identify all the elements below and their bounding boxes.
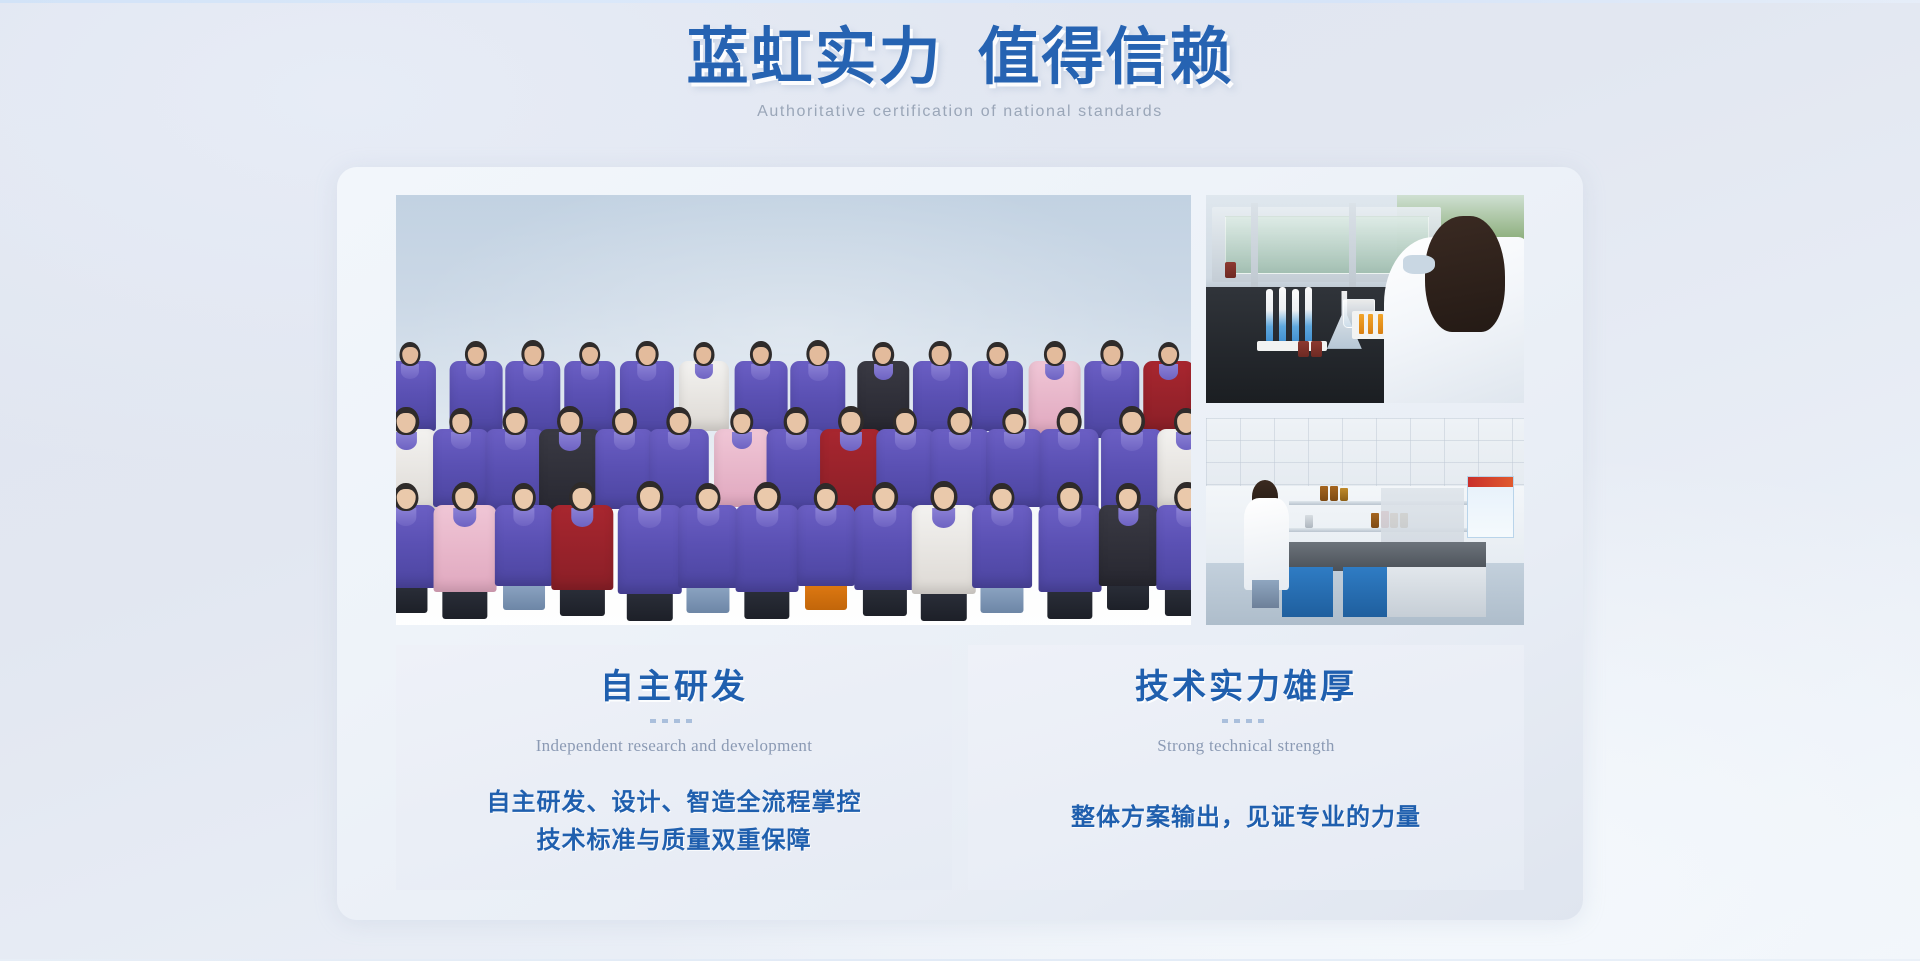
group-photo-person-uniform [1157, 505, 1192, 590]
card-english-subtitle: Strong technical strength [968, 736, 1524, 756]
group-photo-person-collar [396, 432, 417, 450]
group-photo-person-collar [1004, 432, 1024, 449]
group-photo-person [854, 462, 915, 590]
card-body-line: 自主研发、设计、智造全流程掌控 [396, 784, 952, 823]
group-photo-person-legs [1047, 588, 1092, 618]
group-photo-person-uniform [972, 505, 1032, 588]
card-body-text: 自主研发、设计、智造全流程掌控 技术标准与质量双重保障 [396, 784, 952, 862]
group-photo-person-legs [920, 590, 966, 621]
lab2-poster-header [1468, 477, 1514, 487]
group-photo-person-collar [523, 364, 543, 381]
group-photo-person-face [1178, 488, 1191, 509]
group-photo-person-legs [626, 590, 672, 621]
group-photo-person [678, 464, 738, 588]
lab1-reagent-bottle-3 [1225, 262, 1236, 278]
group-photo-person-face [1119, 489, 1137, 509]
group-photo-person-legs [687, 584, 730, 613]
dashed-separator-icon [650, 719, 698, 723]
lab1-vial-3 [1378, 314, 1383, 335]
group-photo-person [1038, 461, 1101, 592]
lab2-bottle-1 [1320, 486, 1328, 500]
group-photo-person-legs [981, 584, 1024, 613]
lab2-cabinet-blue-1 [1282, 567, 1333, 617]
group-photo-person-collar [874, 364, 893, 380]
group-photo-person-collar [668, 432, 690, 450]
group-photo-person-collar [1058, 508, 1081, 527]
group-photo-people [396, 233, 1191, 533]
group-photo-person-collar [949, 432, 971, 450]
group-photo-person-uniform [854, 505, 915, 590]
lab1-pipette-3 [1292, 289, 1299, 343]
group-photo-person-legs [745, 588, 790, 618]
group-photo-person-legs [1165, 586, 1191, 616]
group-photo-person-uniform [617, 505, 681, 594]
page-title: 蓝虹实力 值得信赖 [0, 22, 1920, 95]
group-photo-person-uniform [1099, 505, 1157, 586]
lab2-cabinet-blue-2 [1343, 567, 1388, 617]
lab1-technician-hair [1425, 216, 1505, 332]
group-photo-person-collar [451, 432, 471, 449]
group-photo-person [911, 460, 975, 594]
lab2-safety-poster [1467, 476, 1515, 538]
group-photo-person-collar [988, 364, 1006, 379]
group-photo-person [797, 465, 855, 586]
group-photo-person-collar [931, 364, 950, 381]
group-photo-person-collar [614, 432, 635, 450]
group-photo-person-face [403, 347, 419, 364]
group-photo-person [494, 465, 552, 586]
lab1-pipette-2 [1279, 287, 1286, 343]
card-title: 技术实力雄厚 [968, 667, 1524, 710]
group-photo-person-face [515, 489, 533, 509]
group-photo-person-uniform [797, 505, 855, 586]
page-subtitle: Authoritative certification of national … [0, 103, 1920, 121]
group-photo-person [552, 462, 613, 590]
page-header: 蓝虹实力 值得信赖 Authoritative certification of… [0, 22, 1920, 121]
group-photo-person [617, 460, 681, 594]
group-photo-person-face [990, 347, 1006, 364]
group-photo-person-collar [895, 432, 916, 450]
content-panel: 自主研发 Independent research and developmen… [337, 167, 1583, 920]
feature-card-independent-rd: 自主研发 Independent research and developmen… [396, 645, 952, 890]
group-photo-person-legs [1107, 582, 1149, 610]
card-title: 自主研发 [396, 667, 952, 710]
lab1-reagent-bottle-1 [1298, 341, 1309, 357]
group-photo-person [736, 461, 799, 592]
page-top-accent-line [0, 0, 1920, 3]
group-photo-person-face [875, 488, 894, 509]
group-photo-person-uniform [433, 505, 496, 592]
group-photo [396, 195, 1191, 625]
group-photo-person-collar [815, 508, 836, 526]
group-photo-person-collar [1118, 508, 1139, 526]
lab1-technician-mask [1403, 255, 1435, 274]
lab-photo-pipetting [1206, 195, 1524, 403]
group-photo-person-collar [751, 364, 770, 380]
group-photo-person-collar [513, 508, 534, 526]
group-photo-person-legs [560, 586, 604, 616]
lab1-pipette-4 [1305, 287, 1312, 343]
group-photo-person-collar [466, 364, 485, 380]
lab1-pipette-1 [1266, 289, 1273, 343]
group-photo-person [1157, 462, 1192, 590]
card-body-line: 技术标准与质量双重保障 [396, 822, 952, 861]
group-photo-person-legs [863, 586, 907, 616]
lab2-cabinet-grey [1387, 567, 1486, 617]
group-photo-person-collar [756, 508, 779, 527]
group-photo-person-uniform [911, 505, 975, 594]
lab2-bottle-2 [1330, 486, 1338, 500]
group-photo-person-collar [732, 432, 752, 449]
group-photo-person-collar [1102, 364, 1122, 381]
group-photo-person [972, 464, 1032, 588]
lab1-vial-1 [1359, 314, 1364, 335]
group-photo-person-face [817, 489, 835, 509]
group-photo-person-collar [637, 364, 656, 381]
lab1-vial-2 [1368, 314, 1373, 335]
group-photo-person-collar [581, 364, 600, 380]
group-photo-person-collar [808, 364, 828, 381]
group-photo-person-collar [401, 364, 419, 379]
group-photo-person-collar [695, 364, 713, 379]
card-english-subtitle: Independent research and development [396, 736, 952, 756]
lab1-reagent-bottle-2 [1311, 341, 1322, 357]
group-photo-person-uniform [396, 505, 436, 588]
lab2-technician-pants [1252, 580, 1279, 608]
card-body-line: 整体方案输出，见证专业的力量 [968, 799, 1524, 838]
group-photo-person-uniform [1038, 505, 1101, 592]
media-gallery [396, 195, 1524, 625]
lab2-bottle-8 [1305, 515, 1313, 527]
group-photo-person-legs [503, 582, 545, 610]
group-photo-person-uniform [678, 505, 738, 588]
group-photo-person-legs [396, 584, 428, 613]
lab2-technician-coat [1244, 498, 1289, 590]
group-photo-person [396, 464, 436, 588]
group-photo-person-collar [453, 508, 476, 527]
lab2-technician [1244, 480, 1289, 608]
lab2-bottle-4 [1371, 513, 1379, 527]
group-photo-person-uniform [736, 505, 799, 592]
dashed-separator-icon [1222, 719, 1270, 723]
group-photo-person-uniform [494, 505, 552, 586]
group-photo-person [1099, 465, 1157, 586]
group-photo-person-face [696, 347, 712, 364]
group-photo-person-uniform [552, 505, 613, 590]
group-photo-person-legs [442, 588, 487, 618]
group-photo-person [433, 461, 496, 592]
group-photo-person-collar [1176, 432, 1191, 450]
group-photo-person-collar [1045, 364, 1064, 380]
lab2-bottle-3 [1340, 488, 1348, 500]
feature-card-list: 自主研发 Independent research and developmen… [396, 645, 1524, 890]
lab-photo-room [1206, 418, 1524, 625]
group-photo-person-face [573, 488, 592, 509]
card-body-text: 整体方案输出，见证专业的力量 [968, 799, 1524, 838]
group-photo-person-collar [1159, 364, 1178, 380]
feature-card-technical-strength: 技术实力雄厚 Strong technical strength 整体方案输出，… [968, 645, 1524, 890]
group-photo-person-legs [805, 582, 847, 610]
